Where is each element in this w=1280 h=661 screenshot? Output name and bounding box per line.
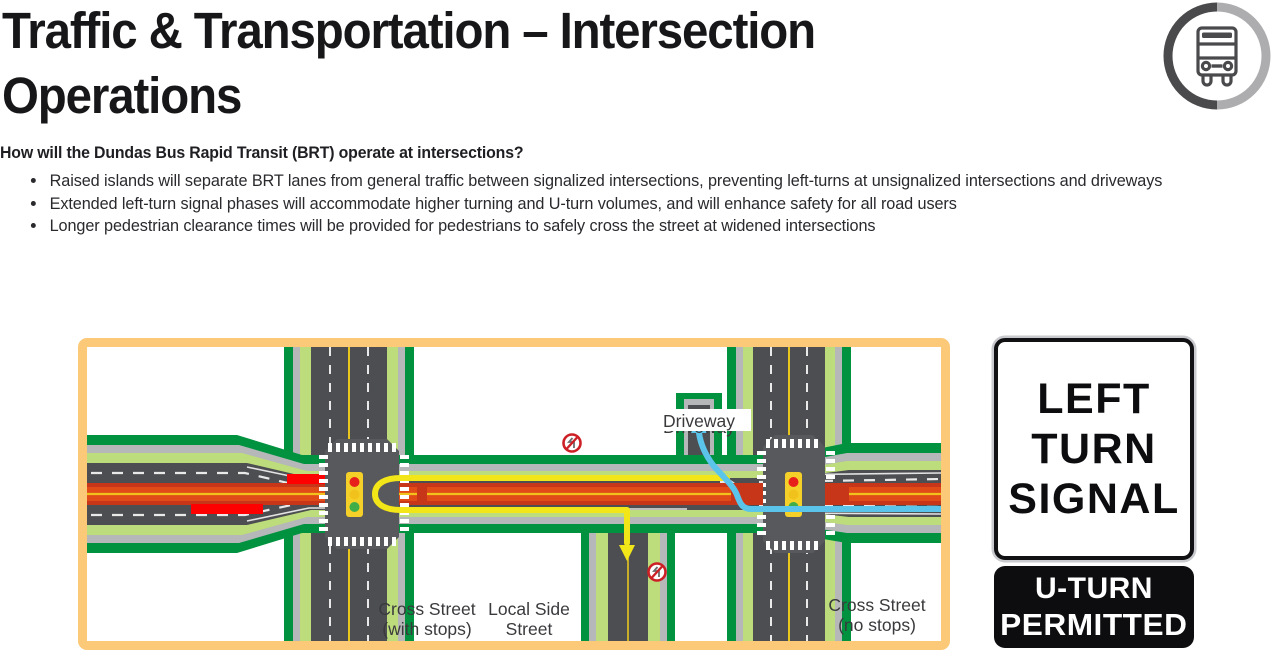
- sign-main-panel: LEFT TURN SIGNAL: [994, 338, 1194, 560]
- section-question: How will the Dundas Bus Rapid Transit (B…: [0, 144, 523, 163]
- sign-sub-line-1: U-TURN: [1035, 571, 1153, 607]
- label-cross-street-left-1: Cross Street: [378, 599, 475, 619]
- label-driveway-top: Driveway: [663, 411, 735, 431]
- label-local-side-street-1: Local Side: [488, 599, 570, 619]
- no-left-turn-sign: [649, 564, 666, 581]
- label-local-side-street-2: Street: [506, 619, 553, 639]
- traffic-signal-left: [346, 472, 363, 517]
- brt-lanes-middle: [375, 483, 731, 505]
- intersection-box-left: [319, 439, 409, 549]
- page-header: Traffic & Transportation – Intersection …: [0, 0, 1280, 132]
- bullet-list: Raised islands will separate BRT lanes f…: [24, 170, 1280, 238]
- left-turn-signal-sign: LEFT TURN SIGNAL U-TURN PERMITTED: [994, 338, 1194, 648]
- brt-gap-left: [417, 483, 427, 505]
- label-cross-street-left-2: (with stops): [382, 619, 471, 639]
- list-item-text: Extended left-turn signal phases will ac…: [50, 195, 957, 213]
- page-title: Traffic & Transportation – Intersection …: [2, 0, 1034, 128]
- sign-line-3: SIGNAL: [1008, 474, 1179, 524]
- bullet-dot-icon: [31, 178, 36, 183]
- bus-stop-platform: [191, 504, 263, 514]
- bullet-dot-icon: [31, 201, 36, 206]
- intersection-box-right: [757, 435, 835, 553]
- sign-sub-panel: U-TURN PERMITTED: [994, 566, 1194, 648]
- intersection-diagram: Driveway Cross Street (with stops) Local…: [87, 347, 941, 641]
- list-item-text: Raised islands will separate BRT lanes f…: [50, 172, 1163, 190]
- list-item: Raised islands will separate BRT lanes f…: [24, 170, 1261, 193]
- intersection-diagram-frame: Driveway Cross Street (with stops) Local…: [78, 338, 950, 650]
- sign-line-1: LEFT: [1037, 374, 1150, 424]
- list-item: Extended left-turn signal phases will ac…: [24, 193, 1261, 216]
- sign-sub-line-2: PERMITTED: [1000, 607, 1187, 643]
- no-left-turn-sign: [564, 435, 581, 452]
- brt-gap-right2: [825, 483, 849, 505]
- label-cross-street-right-2: (no stops): [838, 615, 916, 635]
- label-cross-street-right-1: Cross Street: [828, 595, 925, 615]
- sign-line-2: TURN: [1031, 424, 1156, 474]
- bus-circle-icon: [1163, 2, 1271, 110]
- list-item: Longer pedestrian clearance times will b…: [24, 215, 1261, 238]
- list-item-text: Longer pedestrian clearance times will b…: [50, 217, 876, 235]
- bullet-dot-icon: [31, 223, 36, 228]
- brt-lanes-right: [847, 483, 941, 505]
